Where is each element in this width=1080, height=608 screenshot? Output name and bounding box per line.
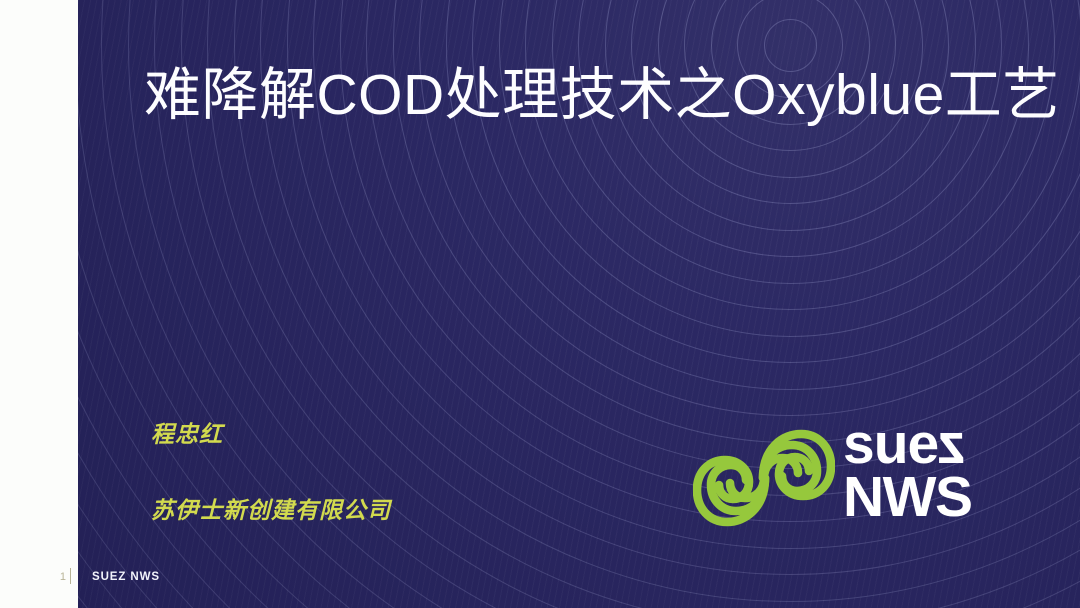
page-number: 1 <box>50 571 66 583</box>
page-number-divider <box>70 568 71 584</box>
wordmark-suez: suez <box>843 418 971 470</box>
presenter-organization: 苏伊士新创建有限公司 <box>151 491 391 525</box>
wordmark-nws: NWS <box>843 470 971 525</box>
slide-canvas: 难降解COD处理技术之Oxyblue工艺 程忠红 苏伊士新创建有限公司 <box>78 0 1080 608</box>
suez-nws-logo: suez NWS <box>693 420 1023 540</box>
presentation-slide: 难降解COD处理技术之Oxyblue工艺 程忠红 苏伊士新创建有限公司 <box>0 0 1080 608</box>
page-title: 难降解COD处理技术之Oxyblue工艺 <box>144 62 1044 129</box>
suez-nws-wordmark: suez NWS <box>843 418 971 525</box>
presenter-name: 程忠红 <box>151 415 391 449</box>
footer-brand-label: SUEZ NWS <box>92 571 160 583</box>
suez-infinity-spiral-mark-icon <box>693 426 835 535</box>
presenter-block: 程忠红 苏伊士新创建有限公司 <box>151 415 391 525</box>
